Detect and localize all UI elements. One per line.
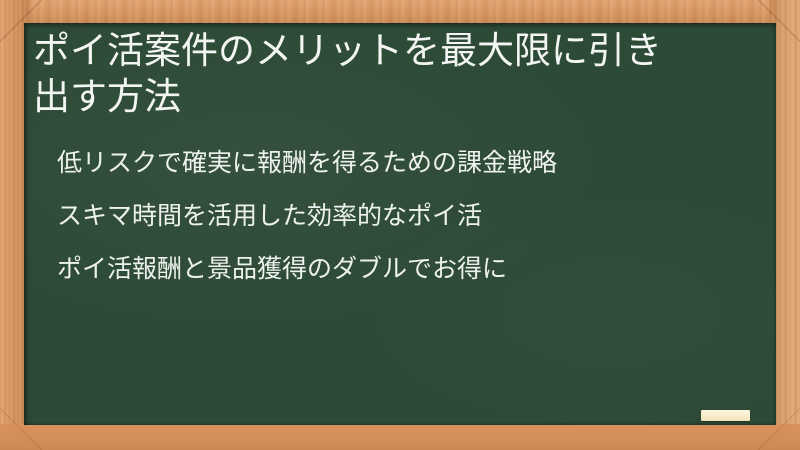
chalkboard: ポイ活案件のメリットを最大限に引き出す方法 低リスクで確実に報酬を得るための課金… [24, 23, 776, 425]
slide-title-line-2: 出す方法 [33, 76, 181, 117]
slide-bullet-list: 低リスクで確実に報酬を得るための課金戦略 スキマ時間を活用した効率的なポイ活 ポ… [57, 151, 757, 282]
list-item: スキマ時間を活用した効率的なポイ活 [57, 204, 757, 229]
chalk-stick-icon [701, 410, 750, 421]
slide-title-line-1: ポイ活案件のメリットを最大限に引き [33, 30, 662, 71]
slide-title: ポイ活案件のメリットを最大限に引き出す方法 [33, 28, 749, 120]
chalkboard-surface: ポイ活案件のメリットを最大限に引き出す方法 低リスクで確実に報酬を得るための課金… [24, 23, 776, 425]
list-item: ポイ活報酬と景品獲得のダブルでお得に [57, 257, 757, 282]
frame-rail-top [0, 0, 800, 23]
frame-chalk-tray [0, 424, 800, 450]
list-item: 低リスクで確実に報酬を得るための課金戦略 [57, 151, 757, 176]
slide-canvas: ポイ活案件のメリットを最大限に引き出す方法 低リスクで確実に報酬を得るための課金… [0, 0, 800, 450]
